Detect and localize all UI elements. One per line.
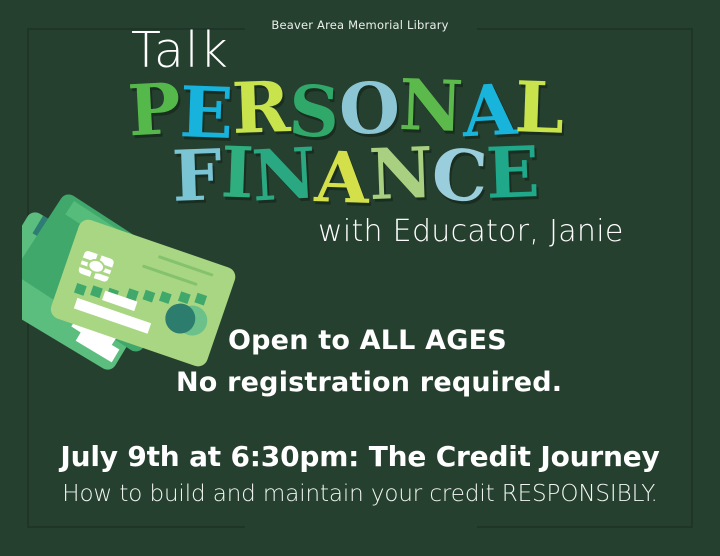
finance-letter-1: I: [219, 137, 253, 208]
finance-letter-2: N: [251, 138, 318, 211]
open-to-all-ages-text: Open to ALL AGES: [228, 325, 507, 356]
title-subtitle: with Educator, Janie: [318, 214, 624, 249]
finance-letter-0: F: [171, 140, 222, 212]
frame-gap-bottom: [245, 519, 477, 535]
title-word-finance: FINANCE: [172, 138, 539, 208]
library-name: Beaver Area Memorial Library: [0, 18, 720, 32]
finance-letter-5: C: [430, 140, 488, 213]
finance-letter-3: A: [314, 142, 370, 214]
event-description: How to build and maintain your credit RE…: [0, 481, 720, 507]
finance-letter-6: E: [485, 137, 540, 209]
finance-letter-4: N: [368, 138, 433, 210]
no-registration-text: No registration required.: [176, 367, 562, 398]
event-datetime-title: July 9th at 6:30pm: The Credit Journey: [0, 440, 720, 473]
event-poster: Beaver Area Memorial Library Talk PERSON…: [0, 0, 720, 556]
